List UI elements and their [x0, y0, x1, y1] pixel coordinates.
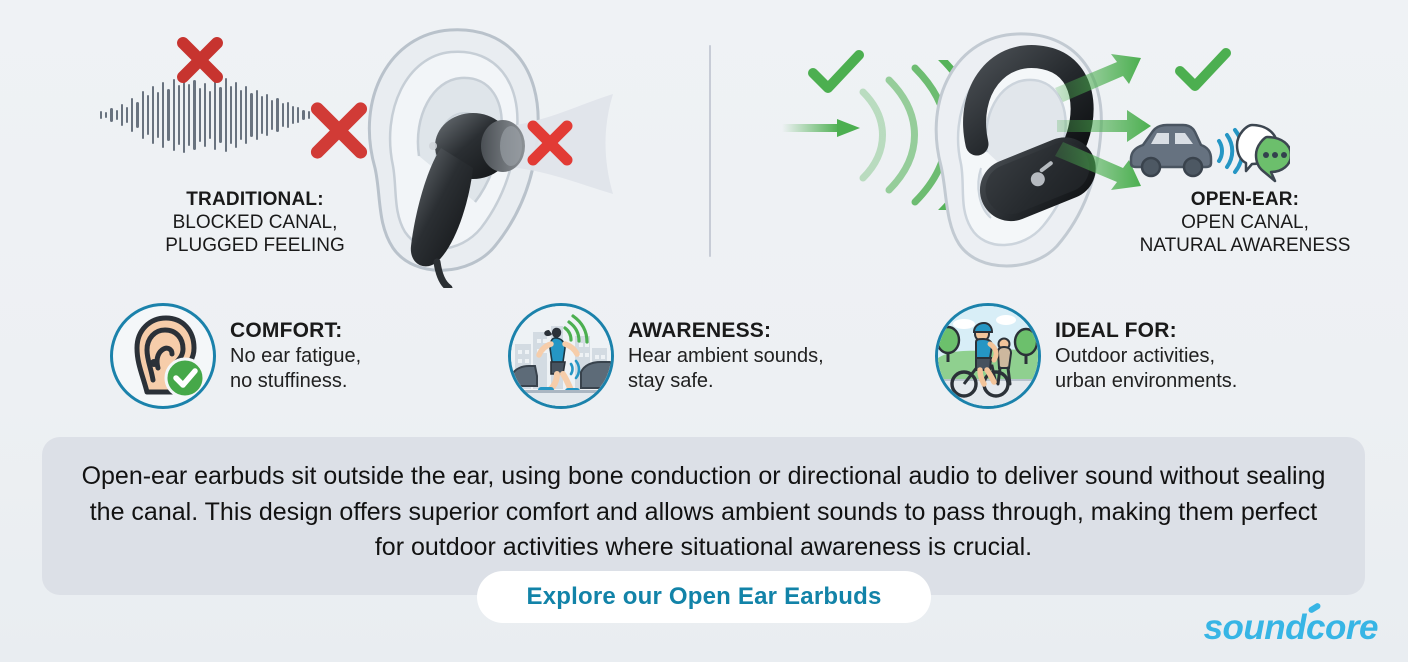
openear-line-2: NATURAL AWARENESS [1085, 234, 1405, 257]
openear-line-1: OPEN CANAL, [1085, 211, 1405, 234]
feature-title: COMFORT: [230, 318, 361, 344]
feature-title: AWARENESS: [628, 318, 824, 344]
red-x-small-icon [170, 30, 230, 90]
traditional-line-2: PLUGGED FEELING [60, 234, 450, 257]
explore-open-ear-earbuds-button[interactable]: Explore our Open Ear Earbuds [477, 571, 931, 623]
feature-line-2: urban environments. [1055, 369, 1237, 394]
feature-line-1: Hear ambient sounds, [628, 344, 824, 369]
cyclist-park-icon [935, 303, 1041, 409]
ambient-sound-icons [1125, 115, 1290, 185]
car-icon [1131, 125, 1211, 176]
feature-comfort: COMFORT: No ear fatigue, no stuffiness. [110, 298, 361, 414]
speech-bubble-icon [1237, 125, 1290, 181]
ear-check-icon [110, 303, 216, 409]
vertical-divider [709, 45, 711, 257]
soundcore-logo-text: soundcore [1204, 608, 1378, 647]
traditional-line-1: BLOCKED CANAL, [60, 211, 450, 234]
feature-ideal-for: IDEAL FOR: Outdoor activities, urban env… [935, 298, 1237, 414]
traditional-label: TRADITIONAL: BLOCKED CANAL, PLUGGED FEEL… [60, 188, 450, 258]
feature-text: COMFORT: No ear fatigue, no stuffiness. [230, 318, 361, 394]
description-text: Open-ear earbuds sit outside the ear, us… [42, 437, 1365, 566]
feature-title: IDEAL FOR: [1055, 318, 1237, 344]
feature-line-1: Outdoor activities, [1055, 344, 1237, 369]
feature-line-2: no stuffiness. [230, 369, 361, 394]
openear-label: OPEN-EAR: OPEN CANAL, NATURAL AWARENESS [1085, 188, 1405, 258]
runner-city-icon [508, 303, 614, 409]
traditional-title: TRADITIONAL: [60, 188, 450, 211]
feature-text: AWARENESS: Hear ambient sounds, stay saf… [628, 318, 824, 394]
openear-title: OPEN-EAR: [1085, 188, 1405, 211]
feature-text: IDEAL FOR: Outdoor activities, urban env… [1055, 318, 1237, 394]
feature-line-1: No ear fatigue, [230, 344, 361, 369]
infographic-canvas: TRADITIONAL: BLOCKED CANAL, PLUGGED FEEL… [0, 0, 1408, 662]
feature-line-2: stay safe. [628, 369, 824, 394]
feature-awareness: AWARENESS: Hear ambient sounds, stay saf… [508, 298, 824, 414]
soundcore-logo: soundcore [1204, 608, 1378, 648]
